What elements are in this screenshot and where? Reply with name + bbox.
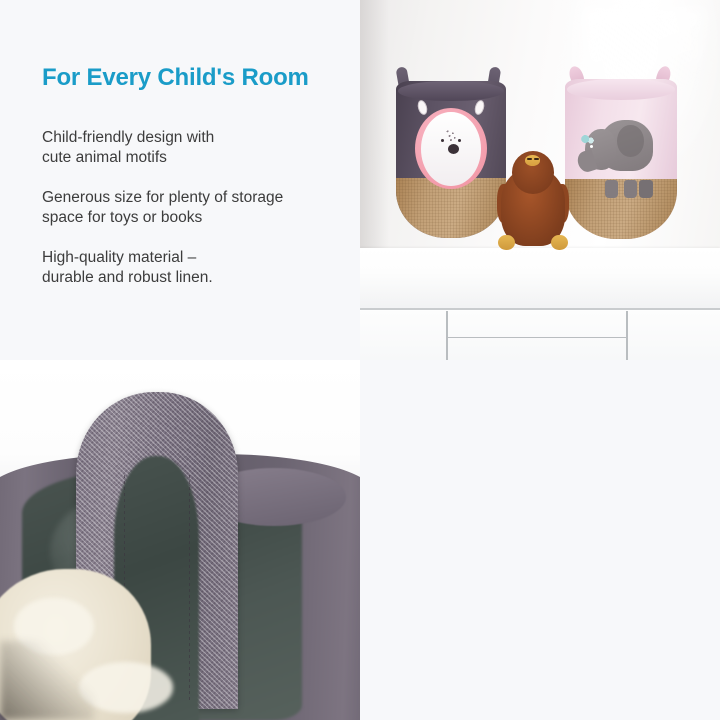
elephant-eye — [590, 145, 593, 148]
butterfly-icon — [581, 135, 595, 145]
koala-face — [421, 112, 480, 186]
dresser-top-surface — [360, 248, 720, 309]
elephant-storage-basket — [565, 79, 677, 239]
feature-list-top-left: Child-friendly design with cute animal m… — [42, 128, 342, 288]
handle-stitching — [189, 475, 190, 703]
koala-freckles — [445, 130, 458, 143]
elephant-leg — [624, 180, 637, 198]
monkey-paw-right — [551, 235, 568, 251]
product-photo-shelf-scene — [360, 0, 720, 360]
monkey-face — [525, 155, 540, 166]
monkey-eye-left — [527, 158, 532, 160]
list-item: Child-friendly design with cute animal m… — [42, 128, 342, 168]
koala-storage-basket — [396, 81, 506, 238]
panel-top-left: For Every Child's Room Child-friendly de… — [0, 0, 360, 360]
basket-rim — [567, 79, 674, 100]
list-item: Generous size for plenty of storage spac… — [42, 188, 342, 228]
monkey-plush-toy — [495, 151, 571, 248]
elephant-ear — [617, 125, 644, 157]
koala-ear-right — [473, 99, 486, 116]
page-title: For Every Child's Room — [42, 64, 309, 92]
basket-body — [396, 81, 506, 238]
product-photo-handle-closeup — [0, 360, 360, 720]
elephant-motif — [583, 118, 661, 188]
panel-bottom-right: Practical decorative element Sturdy carr… — [360, 360, 720, 720]
monkey-eye-right — [534, 158, 539, 160]
infographic-sheet: For Every Child's Room Child-friendly de… — [0, 0, 720, 720]
elephant-leg — [639, 180, 652, 198]
elephant-leg — [605, 180, 618, 198]
koala-eye-left — [441, 139, 444, 142]
koala-ear-left — [416, 99, 429, 116]
wall-corner-shadow — [360, 0, 389, 252]
dresser-seam — [626, 311, 627, 360]
koala-nose — [448, 144, 459, 154]
koala-eye-right — [458, 139, 461, 142]
corner-shadow — [0, 641, 94, 720]
monkey-paw-left — [498, 235, 515, 251]
dresser-seam — [446, 337, 626, 338]
monkey-head — [512, 151, 554, 194]
dresser-front — [360, 311, 720, 360]
dresser-edge — [360, 308, 720, 310]
list-item: High-quality material – durable and robu… — [42, 248, 342, 288]
basket-body — [565, 79, 677, 239]
